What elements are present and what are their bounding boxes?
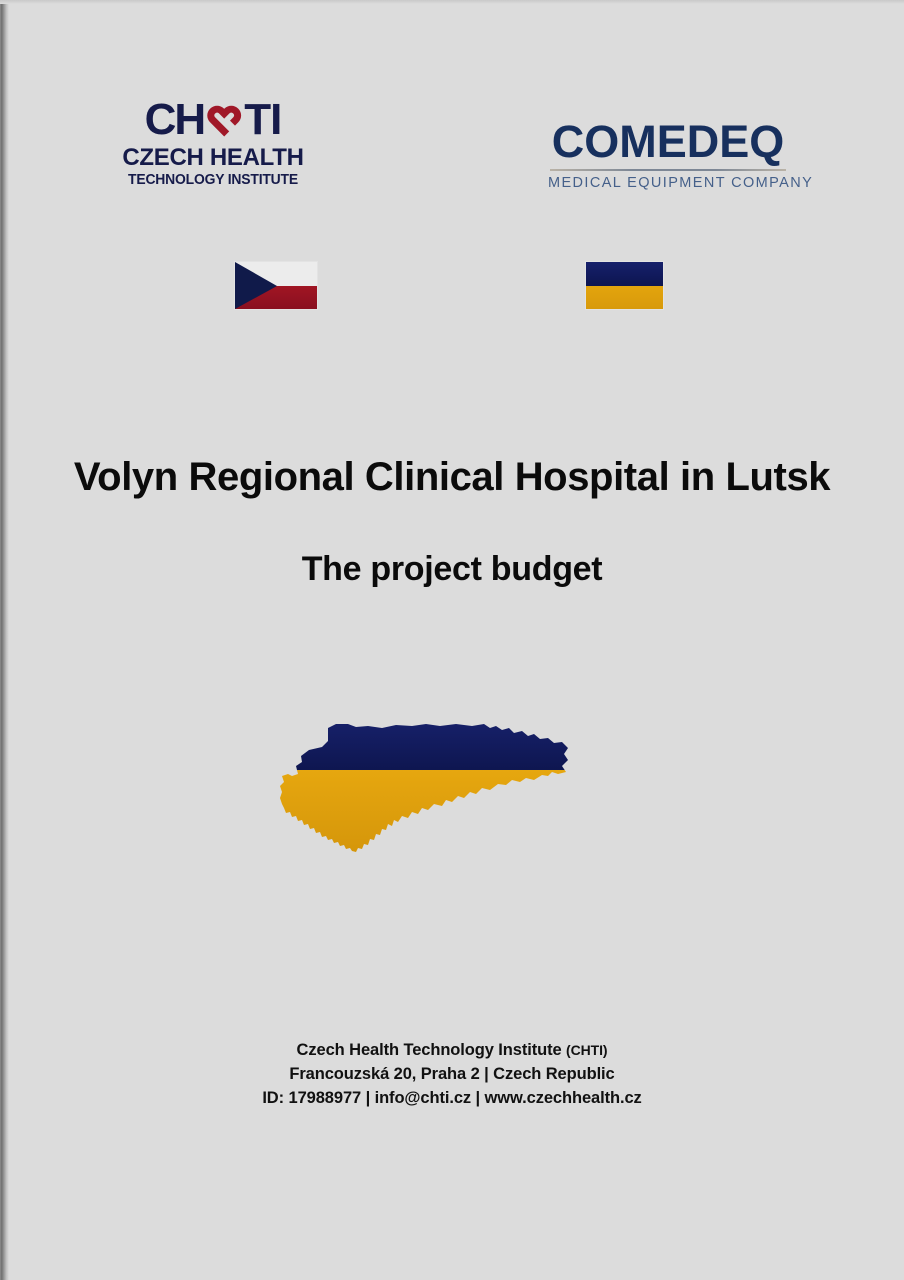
comedeq-divider-rule: [550, 169, 786, 171]
footer-contact-block: Czech Health Technology Institute (CHTI)…: [52, 1038, 852, 1110]
footer-contact-details: ID: 17988977 | info@chti.cz | www.czechh…: [52, 1086, 852, 1110]
chti-logo-line-czech-health: CZECH HEALTH: [113, 145, 313, 171]
page-title: Volyn Regional Clinical Hospital in Luts…: [72, 452, 832, 502]
comedeq-logo: COMEDEQ MEDICAL EQUIPMENT COMPANY: [548, 118, 788, 191]
chti-logo-line-technology-institute: TECHNOLOGY INSTITUTE: [117, 171, 309, 189]
comedeq-tagline: MEDICAL EQUIPMENT COMPANY: [548, 175, 788, 191]
chti-wordmark: CH TI: [113, 96, 313, 144]
title-block: Volyn Regional Clinical Hospital in Luts…: [72, 452, 832, 590]
footer-org-abbrev: (CHTI): [566, 1042, 607, 1058]
ukraine-map-icon: [276, 712, 576, 857]
map-gold-half: [276, 770, 576, 857]
logo-row: CH TI CZECH HEALTH TECHNOLOGY INSTITUTE …: [0, 96, 904, 206]
chti-logo: CH TI CZECH HEALTH TECHNOLOGY INSTITUTE: [113, 96, 313, 189]
footer-org-main: Czech Health Technology Institute: [297, 1041, 567, 1059]
chti-wordmark-left: CH: [145, 95, 205, 144]
footer-organization-name: Czech Health Technology Institute (CHTI): [52, 1038, 852, 1062]
ukraine-flag-icon: [585, 261, 664, 310]
map-blue-half: [276, 712, 576, 770]
page-subtitle: The project budget: [72, 548, 832, 590]
footer-address: Francouzská 20, Praha 2 | Czech Republic: [52, 1062, 852, 1086]
page-top-shadow: [0, 0, 904, 4]
comedeq-wordmark: COMEDEQ: [548, 118, 788, 166]
czech-flag-blue-triangle: [235, 262, 277, 309]
chti-wordmark-right: TI: [244, 95, 281, 144]
ukraine-flag-gold-band: [586, 286, 663, 310]
czech-republic-flag-icon: [234, 261, 318, 310]
ukraine-flag-blue-band: [586, 262, 663, 286]
document-cover-page: CH TI CZECH HEALTH TECHNOLOGY INSTITUTE …: [0, 0, 904, 1280]
heart-icon: [204, 101, 244, 141]
